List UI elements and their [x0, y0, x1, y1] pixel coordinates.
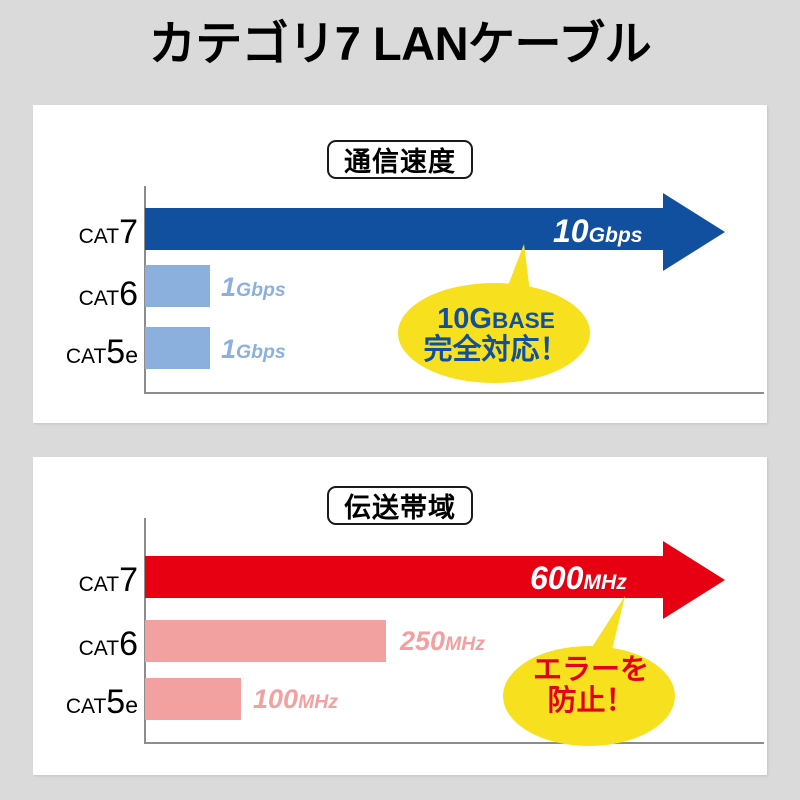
chart-heading-speed: 通信速度	[327, 140, 473, 179]
bar-cat6-bandwidth	[145, 620, 386, 662]
bar-value-number: 250	[400, 626, 445, 656]
bar-value-number: 100	[253, 684, 298, 714]
bar-value-number: 1	[221, 272, 236, 302]
callout-line-1-main: エラーを	[533, 654, 649, 686]
cat-prefix: CAT	[79, 573, 119, 596]
bar-value-cat5e-speed: 1Gbps	[221, 336, 286, 363]
cat-suffix: e	[125, 342, 138, 368]
callout-line-2: 完全対応！	[396, 335, 596, 366]
callout-line-1: 10GBASE	[396, 304, 596, 335]
bar-cat6-speed	[145, 265, 210, 307]
bar-value-number: 600	[530, 560, 583, 596]
cat-number: 5	[106, 333, 125, 371]
callout-text-bandwidth: エラーを 防止！	[503, 655, 679, 718]
category-label-cat7-bandwidth: CAT7	[20, 563, 138, 597]
page-title: カテゴリ7 LANケーブル	[0, 18, 800, 70]
bar-value-cat6-speed: 1Gbps	[221, 274, 286, 301]
bar-value-unit: MHz	[298, 691, 338, 713]
bar-value-cat7-bandwidth: 600MHz	[530, 562, 627, 594]
cat-prefix: CAT	[66, 695, 106, 718]
cat-number: 7	[119, 561, 138, 599]
category-label-cat6-bandwidth: CAT6	[20, 627, 138, 661]
cat-number: 6	[119, 275, 138, 313]
bar-value-cat5e-bandwidth: 100MHz	[253, 686, 338, 713]
cat-number: 5	[106, 683, 125, 721]
bar-value-number: 1	[221, 334, 236, 364]
cat-prefix: CAT	[66, 345, 106, 368]
category-label-cat6-speed: CAT6	[20, 277, 138, 311]
chart-heading-bandwidth: 伝送帯域	[327, 486, 473, 525]
bar-value-unit: Gbps	[236, 341, 286, 363]
bar-value-unit: MHz	[583, 571, 626, 594]
cat-number: 6	[119, 625, 138, 663]
callout-line-1: エラーを	[503, 655, 679, 686]
category-label-cat5e-speed: CAT5e	[10, 335, 138, 369]
callout-line-1-main: 10G	[437, 303, 492, 335]
cat-prefix: CAT	[79, 287, 119, 310]
callout-line-2: 防止！	[503, 686, 679, 717]
bar-value-unit: MHz	[445, 633, 485, 655]
bar-value-unit: Gbps	[589, 224, 643, 247]
page-root: カテゴリ7 LANケーブル 通信速度 CAT7 CAT6 CAT5e 10Gbp…	[0, 0, 800, 800]
cat-number: 7	[119, 213, 138, 251]
bar-value-unit: Gbps	[236, 279, 286, 301]
callout-text-speed: 10GBASE 完全対応！	[396, 304, 596, 367]
bar-cat5e-speed	[145, 327, 210, 369]
category-label-cat7-speed: CAT7	[20, 215, 138, 249]
bar-value-cat6-bandwidth: 250MHz	[400, 628, 485, 655]
category-label-cat5e-bandwidth: CAT5e	[10, 685, 138, 719]
axis-horizontal-speed	[144, 392, 764, 394]
cat-suffix: e	[125, 692, 138, 718]
callout-line-1-small: BASE	[492, 308, 555, 333]
bar-cat5e-bandwidth	[145, 678, 241, 720]
cat-prefix: CAT	[79, 637, 119, 660]
cat-prefix: CAT	[79, 225, 119, 248]
